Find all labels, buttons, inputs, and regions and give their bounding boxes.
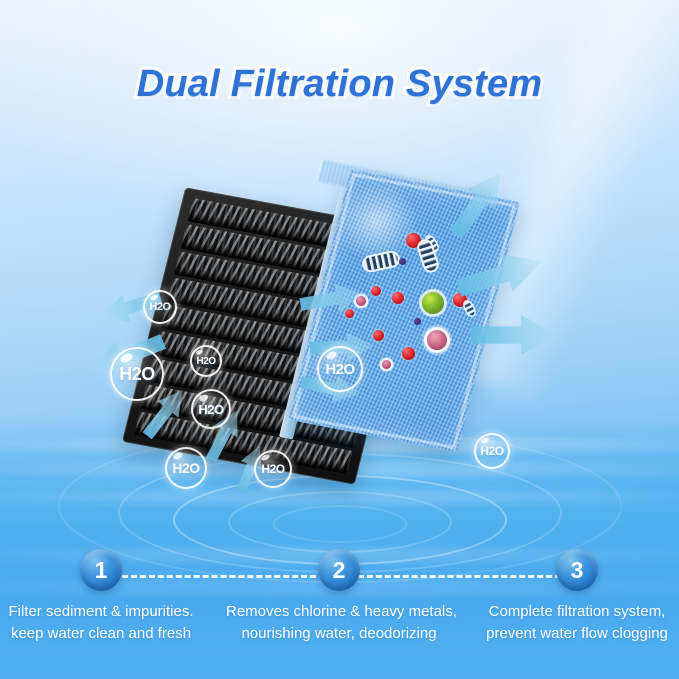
step-3-line-2: prevent water flow clogging [464, 623, 679, 645]
water-inflow-arrow [451, 242, 549, 308]
water-inflow-arrow [297, 366, 362, 410]
carbon-filter-slat [161, 304, 380, 367]
carbon-filter-slat [167, 278, 386, 341]
water-inflow-arrow [440, 162, 515, 246]
step-1-line-1: Filter sediment & impurities. [0, 601, 214, 623]
microbe-particle [345, 309, 354, 318]
microbe-particle [356, 296, 366, 306]
water-outflow-arrow [97, 283, 165, 331]
h2o-bubble-label: H2O [149, 301, 170, 313]
step-1: 1 Filter sediment & impurities. keep wat… [0, 549, 214, 645]
step-1-line-2: keep water clean and fresh [0, 623, 214, 645]
microbe-particle [463, 300, 476, 317]
microbe-particle [422, 292, 444, 314]
microbe-particle [453, 293, 467, 307]
step-3-text: Complete filtration system, prevent wate… [464, 601, 679, 645]
infographic-canvas: Dual Filtration System H2OH2OH2OH2OH2OH2… [0, 0, 679, 679]
microbe-particle [373, 330, 384, 341]
microbe-particle [414, 318, 421, 325]
water-inflow-arrow [298, 277, 367, 322]
sponge-filter-side-edge [279, 186, 355, 439]
carbon-filter-slat [147, 358, 366, 421]
top-glow [0, 0, 679, 240]
step-2: 2 Removes chlorine & heavy metals, nouri… [226, 549, 452, 645]
h2o-bubble-icon: H2O [317, 346, 363, 392]
sponge-filter-fiber-edge [317, 160, 491, 214]
microbe-particle [392, 292, 404, 304]
carbon-filter-slat [187, 198, 406, 261]
step-2-number: 2 [318, 549, 360, 591]
microbe-particle [363, 252, 399, 272]
page-title: Dual Filtration System [0, 63, 679, 106]
step-1-number: 1 [80, 549, 122, 591]
microbe-particle [371, 286, 381, 296]
h2o-bubble-icon: H2O [110, 347, 164, 401]
steps-section: 1 Filter sediment & impurities. keep wat… [0, 549, 679, 679]
microbe-particle [402, 347, 415, 360]
carbon-filter-slat [181, 225, 400, 288]
carbon-filter-slat [174, 251, 393, 314]
carbon-filter-slat [154, 331, 373, 394]
h2o-bubble-label: H2O [119, 364, 155, 385]
microbe-particle [427, 330, 447, 350]
blue-sponge-filter-panel [288, 169, 519, 452]
step-2-line-2: nourishing water, deodorizing [226, 623, 452, 645]
water-inflow-arrow [468, 315, 560, 355]
h2o-bubble-label: H2O [198, 402, 223, 417]
step-1-text: Filter sediment & impurities. keep water… [0, 601, 214, 645]
h2o-bubble-icon: H2O [143, 290, 177, 324]
h2o-bubble-label: H2O [196, 356, 215, 367]
h2o-bubble-icon: H2O [190, 345, 222, 377]
step-2-text: Removes chlorine & heavy metals, nourish… [226, 601, 452, 645]
h2o-bubble-label: H2O [325, 361, 354, 378]
step-3-line-1: Complete filtration system, [464, 601, 679, 623]
water-inflow-arrow [309, 329, 374, 365]
microbe-particle [418, 240, 439, 272]
step-3-number: 3 [556, 549, 598, 591]
water-outflow-arrow [84, 325, 170, 388]
diagonal-light-streak [426, 0, 679, 404]
microbe-particle [399, 258, 406, 265]
microbe-particle [406, 233, 421, 248]
step-3: 3 Complete filtration system, prevent wa… [464, 549, 679, 645]
microbe-particle [425, 235, 439, 252]
microbe-particle [382, 360, 391, 369]
step-2-line-1: Removes chlorine & heavy metals, [226, 601, 452, 623]
